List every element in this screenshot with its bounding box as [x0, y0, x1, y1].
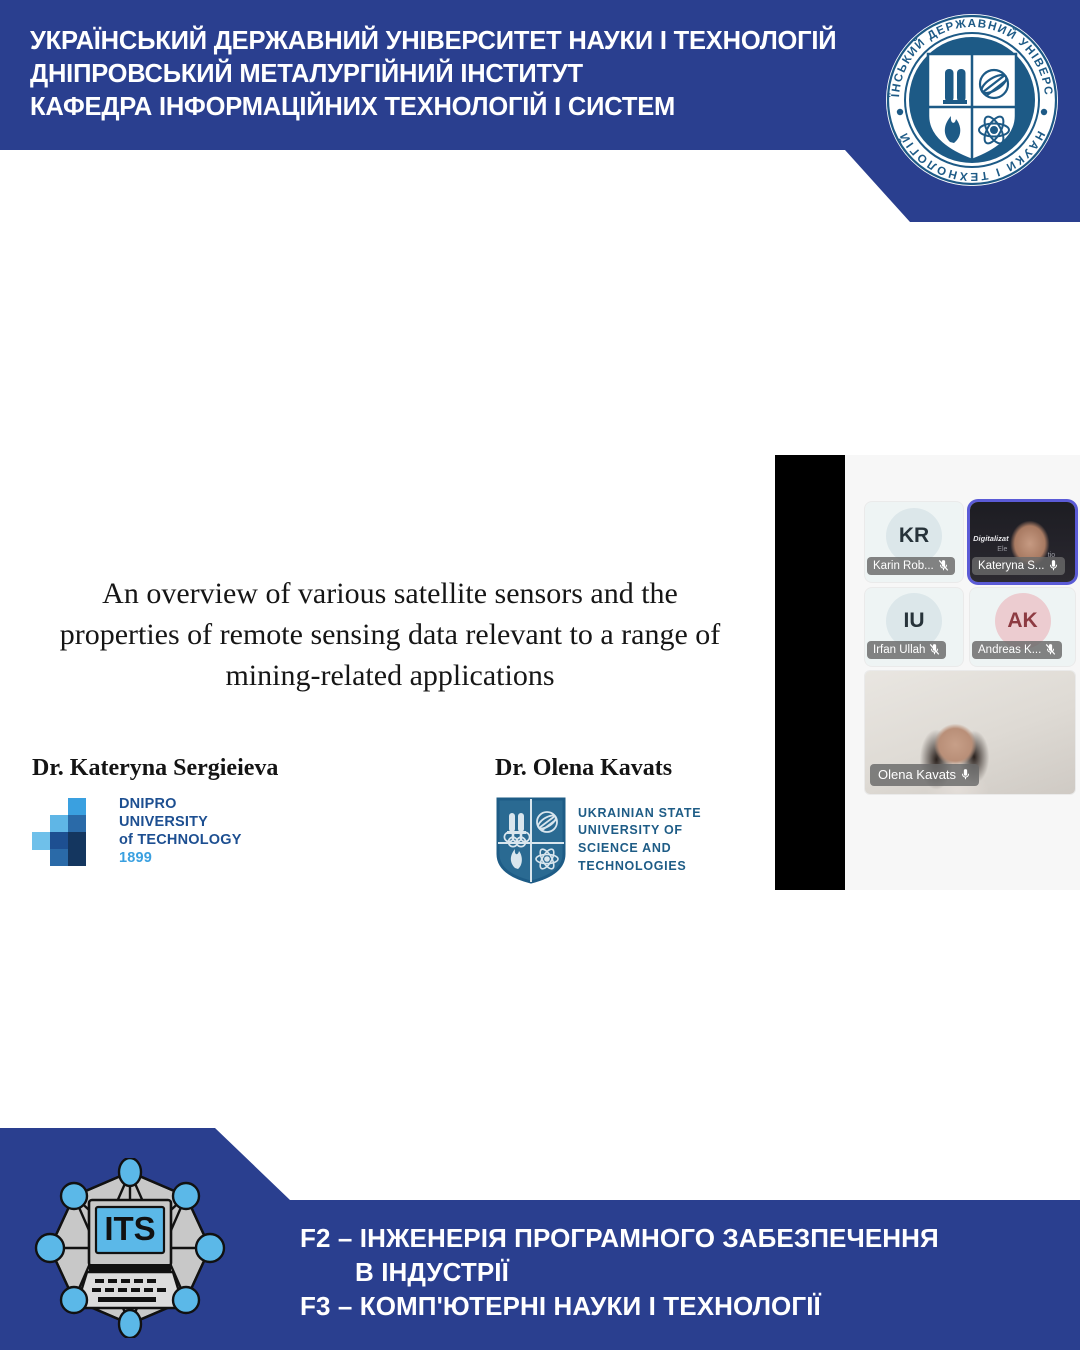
participant-name: Andreas K... [978, 644, 1041, 656]
participant-name-chip: Kateryna S... [972, 557, 1065, 575]
participant-name-chip: Olena Kavats [870, 764, 979, 786]
participant-name: Olena Kavats [878, 767, 956, 782]
presenter-block-kateryna: Dr. Kateryna Sergieieva DNIPRO UNIVERSIT… [32, 755, 362, 868]
participant-name-chip: Andreas K... [972, 641, 1062, 659]
footer-banner: ITS F2 – ІНЖЕНЕРІЯ ПРОГРАМН [0, 1128, 1080, 1350]
background-text-line-2: Ele [997, 546, 1007, 553]
header-banner: УКРАЇНСЬКИЙ ДЕРЖАВНИЙ УНІВЕРСИТЕТ НАУКИ … [0, 0, 1080, 222]
dnipro-line-3: of TECHNOLOGY [119, 832, 242, 850]
participant-name: Karin Rob... [873, 560, 934, 572]
presenter-name: Dr. Kateryna Sergieieva [32, 755, 362, 782]
header-line-1: УКРАЇНСЬКИЙ ДЕРЖАВНИЙ УНІВЕРСИТЕТ НАУКИ … [30, 25, 890, 58]
usust-logo-wordmark: UKRAINIAN STATE UNIVERSITY OF SCIENCE AN… [578, 805, 701, 876]
screenshare-letterbox [775, 455, 845, 890]
usust-line-4: TECHNOLOGIES [578, 858, 701, 876]
usust-line-1: UKRAINIAN STATE [578, 805, 701, 823]
dnipro-logo-wordmark: DNIPRO UNIVERSITY of TECHNOLOGY 1899 [119, 796, 242, 868]
participant-name-chip: Karin Rob... [867, 557, 955, 575]
footer-line-1: F2 – ІНЖЕНЕРІЯ ПРОГРАМНОГО ЗАБЕЗПЕЧЕННЯ [300, 1222, 1060, 1256]
footer-line-2: В ІНДУСТРІЇ [300, 1256, 1060, 1290]
its-logo-text: ITS [104, 1210, 155, 1247]
dnipro-logo-row: DNIPRO UNIVERSITY of TECHNOLOGY 1899 [32, 796, 362, 868]
participant-tile-karin-rob[interactable]: KR Karin Rob... [865, 502, 963, 582]
ukrainian-state-university-logo-icon [495, 796, 567, 884]
mic-active-icon [960, 768, 971, 781]
footer-line-3: F3 – КОМП'ЮТЕРНІ НАУКИ І ТЕХНОЛОГІЇ [300, 1290, 1060, 1324]
its-network-logo-icon: ITS [32, 1158, 228, 1338]
dnipro-line-3-main: TECHNOLOGY [137, 832, 241, 848]
dnipro-line-2: UNIVERSITY [119, 814, 242, 832]
participant-name: Kateryna S... [978, 560, 1044, 572]
usust-line-2: UNIVERSITY OF [578, 822, 701, 840]
mic-muted-icon [929, 643, 940, 656]
usust-line-3: SCIENCE AND [578, 840, 701, 858]
mic-muted-icon [938, 559, 949, 572]
participant-tile-grid: KR Karin Rob... Digitalizat Ele tio Kate… [860, 455, 1080, 890]
participant-tile-irfan-ullah[interactable]: IU Irfan Ullah [865, 588, 963, 666]
mic-active-icon [1048, 559, 1059, 572]
presenter-name: Dr. Olena Kavats [495, 755, 755, 782]
participant-name-chip: Irfan Ullah [867, 641, 946, 659]
dnipro-line-3-prefix: of [119, 832, 137, 848]
svg-text:УКРАЇНСЬКИЙ ДЕРЖАВНИЙ УНІВЕРСИ: УКРАЇНСЬКИЙ ДЕРЖАВНИЙ УНІВЕРСИТЕТ [884, 12, 1055, 99]
dnipro-line-1: DNIPRO [119, 796, 242, 814]
presenter-block-olena: Dr. Olena Kavats [495, 755, 755, 884]
background-text-line-1: Digitalizat [973, 534, 1008, 543]
usust-logo-row: UKRAINIAN STATE UNIVERSITY OF SCIENCE AN… [495, 796, 755, 884]
slide-title: An overview of various satellite sensors… [40, 573, 740, 696]
participant-tile-kateryna-s[interactable]: Digitalizat Ele tio Kateryna S... [970, 502, 1075, 582]
header-line-2: ДНІПРОВСЬКИЙ МЕТАЛУРГІЙНИЙ ІНСТИТУТ [30, 58, 890, 91]
presentation-capture-region: An overview of various satellite sensors… [0, 455, 1080, 890]
header-line-3: КАФЕДРА ІНФОРМАЦІЙНИХ ТЕХНОЛОГІЙ І СИСТЕ… [30, 91, 890, 124]
header-background-shape [0, 0, 1080, 222]
avatar: KR [886, 508, 942, 564]
participant-tile-olena-kavats[interactable]: Olena Kavats [865, 671, 1075, 794]
dnipro-university-logo-icon [32, 798, 110, 866]
footer-section-titles: F2 – ІНЖЕНЕРІЯ ПРОГРАМНОГО ЗАБЕЗПЕЧЕННЯ … [300, 1222, 1060, 1323]
participant-tile-andreas-k[interactable]: AK Andreas K... [970, 588, 1075, 666]
svg-text:НАУКИ І ТЕХНОЛОГІЙ: НАУКИ І ТЕХНОЛОГІЙ [897, 129, 1048, 183]
university-seal-icon: УКРАЇНСЬКИЙ ДЕРЖАВНИЙ УНІВЕРСИТЕТ НАУКИ … [884, 12, 1060, 188]
dnipro-year: 1899 [119, 850, 242, 868]
header-title-block: УКРАЇНСЬКИЙ ДЕРЖАВНИЙ УНІВЕРСИТЕТ НАУКИ … [30, 25, 890, 124]
mic-muted-icon [1045, 643, 1056, 656]
participant-name: Irfan Ullah [873, 644, 925, 656]
